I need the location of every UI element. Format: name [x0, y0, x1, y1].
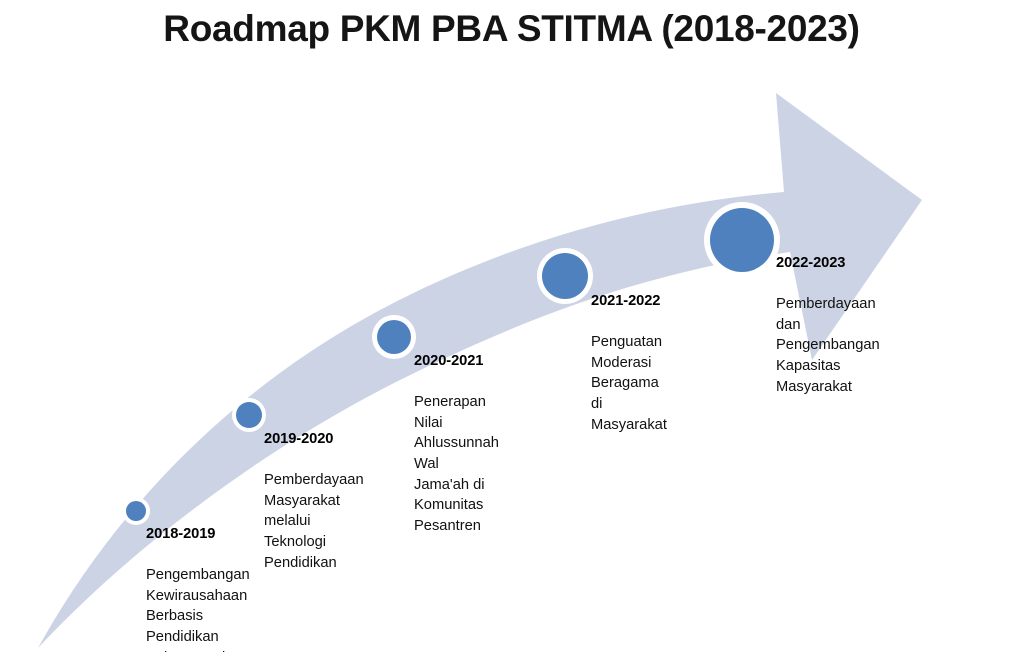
milestone-description: Penguatan Moderasi Beragama di Masyaraka…	[591, 332, 667, 435]
milestone-label: 2022-2023 Pemberdayaan dan Pengembangan …	[776, 232, 880, 418]
milestone-node-icon[interactable]	[542, 253, 588, 299]
milestone-period: 2021-2022	[591, 291, 667, 312]
milestone-node-icon[interactable]	[236, 402, 262, 428]
milestone-period: 2019-2020	[264, 429, 364, 450]
milestone-node-icon[interactable]	[126, 501, 146, 521]
milestone-node-icon[interactable]	[710, 208, 774, 272]
milestone-period: 2018-2019	[146, 524, 250, 545]
milestone-period: 2022-2023	[776, 253, 880, 274]
milestone-label: 2019-2020 Pemberdayaan Masyarakat melalu…	[264, 408, 364, 594]
milestone-node-icon[interactable]	[377, 320, 411, 354]
milestone-period: 2020-2021	[414, 351, 499, 372]
milestone-label: 2020-2021 Penerapan Nilai Ahlussunnah Wa…	[414, 330, 499, 557]
milestone-description: Pengembangan Kewirausahaan Berbasis Pend…	[146, 565, 250, 652]
roadmap-canvas: Roadmap PKM PBA STITMA (2018-2023) 2018-…	[0, 0, 1023, 652]
milestone-description: Pemberdayaan dan Pengembangan Kapasitas …	[776, 294, 880, 397]
milestone-description: Pemberdayaan Masyarakat melalui Teknolog…	[264, 470, 364, 573]
milestone-description: Penerapan Nilai Ahlussunnah Wal Jama'ah …	[414, 392, 499, 536]
milestone-label: 2021-2022 Penguatan Moderasi Beragama di…	[591, 270, 667, 456]
milestone-label: 2018-2019 Pengembangan Kewirausahaan Ber…	[146, 503, 250, 652]
